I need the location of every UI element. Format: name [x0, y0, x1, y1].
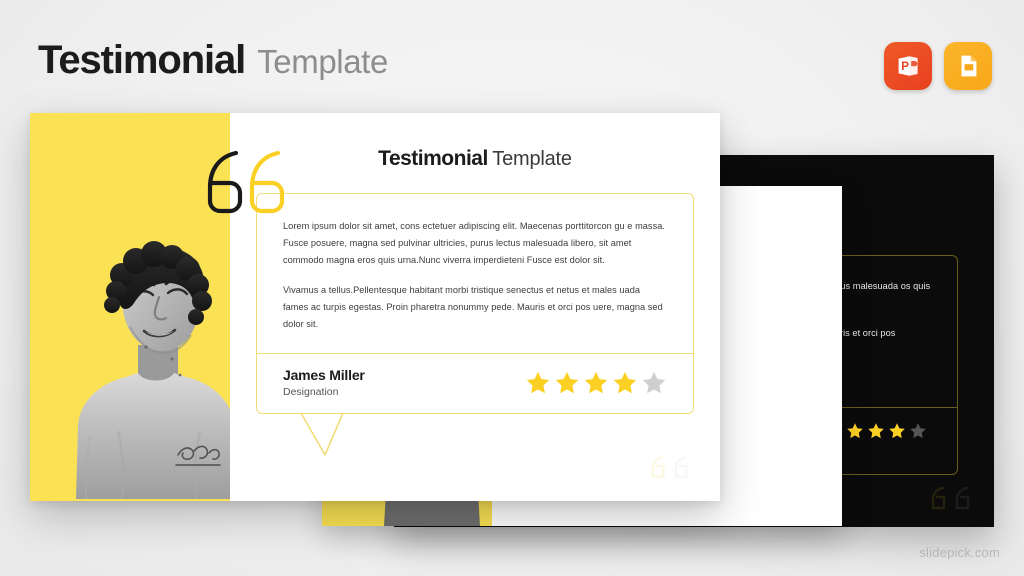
quote-footer: James Miller Designation — [257, 354, 693, 413]
star-rating[interactable] — [525, 370, 667, 396]
accent-panel — [30, 113, 230, 501]
author-block: James Miller Designation — [283, 367, 365, 398]
star-icon-filled[interactable] — [612, 370, 638, 396]
star-icon-filled — [846, 422, 864, 440]
star-icon-filled[interactable] — [554, 370, 580, 396]
site-watermark: slidepick.com — [919, 545, 1000, 560]
star-icon-empty — [909, 422, 927, 440]
quote-body: Lorem ipsum dolor sit amet, cons ectetue… — [257, 194, 693, 354]
star-icon-filled — [888, 422, 906, 440]
quote-mark-icon — [202, 145, 288, 217]
quote-card: Lorem ipsum dolor sit amet, cons ectetue… — [256, 193, 694, 414]
star-icon-empty[interactable] — [641, 370, 667, 396]
brand-watermark-icon-dark — [922, 474, 980, 525]
quote-paragraph-1: Lorem ipsum dolor sit amet, cons ectetue… — [283, 218, 667, 269]
author-name: James Miller — [283, 367, 365, 383]
star-icon-filled — [867, 422, 885, 440]
speech-bubble-tail — [299, 413, 359, 459]
slide-front-title-bold: Testimonial — [378, 147, 488, 170]
slide-stack: nial Template etuer adipiscing elit. Mae… — [0, 0, 1024, 576]
brand-watermark-icon-light — [642, 444, 698, 493]
star-icon-filled[interactable] — [583, 370, 609, 396]
slide-front[interactable]: Testimonial Template Lorem ipsum dolor s… — [30, 113, 720, 501]
quote-paragraph-2: Vivamus a tellus.Pellentesque habitant m… — [283, 282, 667, 333]
slide-front-title: Testimonial Template — [230, 147, 694, 171]
slide-front-content: Testimonial Template Lorem ipsum dolor s… — [230, 113, 720, 501]
author-role: Designation — [283, 386, 365, 398]
star-icon-filled[interactable] — [525, 370, 551, 396]
slide-front-title-light: Template — [492, 148, 572, 170]
